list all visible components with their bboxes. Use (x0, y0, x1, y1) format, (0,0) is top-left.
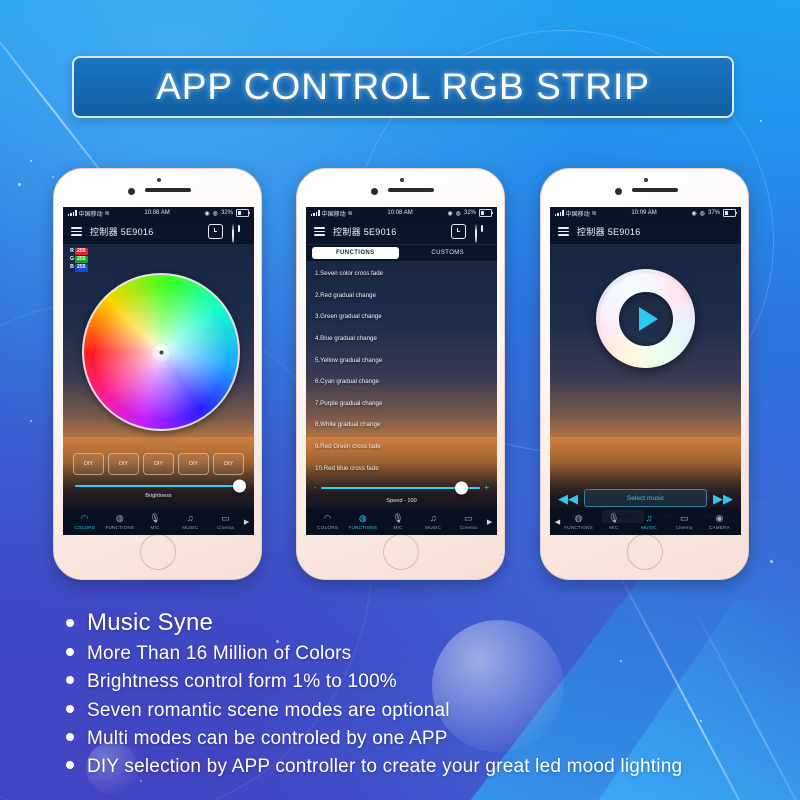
phone-mockup-colors: 中国移动 ≋ 10:08 AM ◉ ◍ 32% 控制器 5E9016 R 255 (53, 168, 262, 580)
cd-disc-icon[interactable] (596, 269, 695, 368)
select-music-button[interactable]: Select music (584, 489, 707, 507)
feature-text: Multi modes can be controled by one APP (87, 726, 448, 752)
star (760, 120, 762, 122)
music-icon: ♫ (187, 513, 194, 524)
rgb-row-red: R 255 (69, 248, 88, 255)
phone1-screen: 中国移动 ≋ 10:08 AM ◉ ◍ 32% 控制器 5E9016 R 255 (63, 207, 254, 535)
tab-bar: FUNCTIONS CUSTOMS (306, 245, 497, 261)
page-title-banner: APP CONTROL RGB STRIP (72, 56, 734, 118)
list-item[interactable]: 2.Red gradual change (315, 285, 497, 307)
list-item: Brightness control form 1% to 100% (66, 669, 776, 695)
list-item[interactable]: 6.Cyan gradual change (315, 371, 497, 393)
device-name-label: 控制器 5E9016 (577, 225, 641, 238)
list-item: Seven romantic scene modes are optional (66, 698, 776, 724)
nav-label: COLORS (317, 525, 338, 530)
cinema-icon: ▭ (464, 513, 473, 524)
nav-prev-arrow-icon[interactable]: ◀ (554, 518, 561, 526)
brightness-label: Brightness (75, 493, 242, 499)
nav-item-mic[interactable]: 🎙 MIC (137, 513, 172, 530)
nav-next-arrow-icon[interactable]: ▶ (243, 518, 250, 526)
nav-item-functions[interactable]: ◍ FUNCTIONS (561, 513, 596, 530)
speed-decrease-button[interactable]: - (314, 484, 317, 492)
mic-icon: 🎙 (392, 513, 403, 524)
feature-text: Brightness control form 1% to 100% (87, 669, 397, 695)
nav-next-arrow-icon[interactable]: ▶ (486, 518, 493, 526)
list-item: DIY selection by APP controller to creat… (66, 754, 776, 780)
page-title: APP CONTROL RGB STRIP (156, 66, 650, 108)
rgb-value: 255 (75, 264, 88, 271)
nav-item-camera[interactable]: ◉ CAMERA (702, 513, 737, 530)
color-wheel[interactable] (82, 273, 240, 431)
brightness-slider-group: Brightness (75, 485, 242, 499)
rgb-row-green: G 255 (69, 256, 88, 263)
hamburger-icon[interactable] (71, 227, 82, 236)
nav-label: Cinema (217, 525, 234, 530)
bullet-dot-icon (66, 619, 74, 627)
front-camera-icon (615, 188, 622, 195)
device-name-label: 控制器 5E9016 (333, 225, 397, 238)
hamburger-icon[interactable] (314, 227, 325, 236)
music-transport-bar: ◀◀ Select music ▶▶ (558, 489, 733, 507)
speed-slider-group: - + Speed - 100 (314, 484, 489, 504)
list-item[interactable]: 4.Blue gradual change (315, 328, 497, 350)
alarm-status-icon: ◍ (700, 210, 705, 217)
functions-icon: ◍ (116, 513, 124, 524)
nav-label: MUSIC (425, 525, 441, 530)
tab-customs[interactable]: CUSTOMS (405, 247, 492, 259)
bottom-nav-bar: ◠ COLORS ◍ FUNCTIONS 🎙 MIC ♫ MUSIC ▭ Cin… (63, 508, 254, 535)
carrier-label: 中国移动 (322, 209, 346, 218)
nav-label: COLORS (74, 525, 95, 530)
nav-label: MUSIC (182, 525, 198, 530)
home-button[interactable] (627, 534, 663, 570)
battery-percent-label: 32% (221, 210, 233, 216)
bottom-nav-bar: ◀ ◍ FUNCTIONS 🎙 MIC ♫ MUSIC ▭ Cinema ◉ C… (550, 508, 741, 535)
diy-button-4[interactable]: DIY (178, 453, 209, 475)
nav-item-colors[interactable]: ◠ COLORS (67, 513, 102, 530)
battery-icon (236, 209, 249, 217)
rgb-readout: R 255 G 255 B 255 (69, 248, 88, 272)
list-item: Multi modes can be controled by one APP (66, 726, 776, 752)
feature-text: Seven romantic scene modes are optional (87, 698, 450, 724)
fast-forward-icon[interactable]: ▶▶ (713, 492, 733, 505)
home-button[interactable] (140, 534, 176, 570)
colors-icon: ◠ (324, 513, 332, 524)
bullet-dot-icon (66, 648, 74, 656)
status-bar: 中国移动 ≋ 10:08 AM ◉ ◍ 32% (306, 207, 497, 219)
bullet-dot-icon (66, 733, 74, 741)
list-item[interactable]: 1.Seven color cross fade (315, 263, 497, 285)
phone-bezel-top (54, 169, 261, 207)
list-item[interactable]: 5.Yellow gradual change (315, 349, 497, 371)
list-item[interactable]: 3.Green gradual change (315, 306, 497, 328)
power-icon[interactable] (232, 225, 246, 239)
nav-item-music[interactable]: ♫ MUSIC (173, 513, 208, 530)
brightness-slider[interactable] (75, 485, 242, 487)
app-bar: 控制器 5E9016 (550, 219, 741, 244)
nav-item-functions[interactable]: ◍ FUNCTIONS (102, 513, 137, 530)
list-item: More Than 16 Million of Colors (66, 641, 776, 667)
feature-text: DIY selection by APP controller to creat… (87, 754, 682, 780)
color-wheel-knob[interactable] (152, 343, 171, 362)
rgb-value: 255 (75, 248, 88, 255)
battery-icon (479, 209, 492, 217)
clock-label: 10:08 AM (353, 210, 448, 216)
nav-item-music[interactable]: ♫ MUSIC (631, 513, 666, 530)
phone3-screen: 中国移动 ≋ 10:09 AM ◉ ◍ 37% 控制器 5E9016 ◀◀ Se… (550, 207, 741, 535)
alarm-status-icon: ◍ (456, 210, 461, 217)
nav-label: FUNCTIONS (106, 525, 135, 530)
brightness-slider-thumb[interactable] (233, 480, 246, 493)
nav-label: Cinema (460, 525, 477, 530)
nav-item-cinema[interactable]: ▭ Cinema (667, 513, 702, 530)
star (30, 420, 32, 422)
proximity-sensor-icon (157, 178, 161, 182)
nav-item-colors[interactable]: ◠ COLORS (310, 513, 345, 530)
phone-mockup-music: 中国移动 ≋ 10:09 AM ◉ ◍ 37% 控制器 5E9016 ◀◀ Se… (540, 168, 749, 580)
functions-icon: ◍ (359, 513, 367, 524)
speed-label: Speed - 100 (314, 498, 489, 504)
carrier-label: 中国移动 (79, 209, 103, 218)
front-camera-icon (371, 188, 378, 195)
diy-button-3[interactable]: DIY (143, 453, 174, 475)
nav-label: MIC (393, 525, 402, 530)
proximity-sensor-icon (400, 178, 404, 182)
bullet-dot-icon (66, 761, 74, 769)
status-bar: 中国移动 ≋ 10:08 AM ◉ ◍ 32% (63, 207, 254, 219)
nav-label: Cinema (676, 525, 693, 530)
music-icon: ♫ (646, 513, 653, 524)
feature-text: Music Syne (87, 606, 213, 639)
earpiece-speaker (632, 188, 678, 192)
battery-percent-label: 32% (464, 210, 476, 216)
mic-icon: 🎙 (149, 513, 160, 524)
signal-icon (555, 210, 564, 216)
proximity-sensor-icon (644, 178, 648, 182)
list-item[interactable]: 8.White gradual change (315, 414, 497, 436)
functions-icon: ◍ (575, 513, 583, 524)
phone-bezel-top (297, 169, 504, 207)
speed-slider-thumb[interactable] (455, 481, 468, 494)
nav-label: MIC (609, 525, 618, 530)
tab-functions[interactable]: FUNCTIONS (312, 247, 399, 259)
phone-bezel-top (541, 169, 748, 207)
list-item[interactable]: 7.Purple gradual change (315, 393, 497, 415)
wallpaper (550, 207, 741, 535)
nav-label: FUNCTIONS (564, 525, 593, 530)
rgb-value: 255 (75, 256, 88, 263)
location-icon: ◉ (691, 210, 696, 217)
rewind-icon[interactable]: ◀◀ (558, 492, 578, 505)
nav-label: MIC (150, 525, 159, 530)
clock-label: 10:08 AM (110, 210, 205, 216)
app-bar: 控制器 5E9016 (63, 219, 254, 244)
nav-item-cinema[interactable]: ▭ Cinema (451, 513, 486, 530)
phone-mockup-functions: 中国移动 ≋ 10:08 AM ◉ ◍ 32% 控制器 5E9016 FUNCT… (296, 168, 505, 580)
nav-item-cinema[interactable]: ▭ Cinema (208, 513, 243, 530)
camera-icon: ◉ (715, 513, 723, 524)
location-icon: ◉ (447, 210, 452, 217)
list-item: Music Syne (66, 606, 776, 639)
star (770, 560, 773, 563)
location-icon: ◉ (204, 210, 209, 217)
nav-label: MUSIC (641, 525, 657, 530)
carrier-label: 中国移动 (566, 209, 590, 218)
nav-item-functions[interactable]: ◍ FUNCTIONS (345, 513, 380, 530)
speed-slider[interactable] (321, 487, 481, 489)
diy-button-row: DIY DIY DIY DIY DIY (73, 453, 244, 475)
cinema-icon: ▭ (221, 513, 230, 524)
list-item[interactable]: 9.Red Green cross fade (315, 436, 497, 458)
bullet-dot-icon (66, 676, 74, 684)
app-bar: 控制器 5E9016 (306, 219, 497, 244)
cinema-icon: ▭ (680, 513, 689, 524)
device-name-label: 控制器 5E9016 (90, 225, 154, 238)
earpiece-speaker (388, 188, 434, 192)
diy-button-5[interactable]: DIY (213, 453, 244, 475)
nav-item-mic[interactable]: 🎙 MIC (380, 513, 415, 530)
speed-increase-button[interactable]: + (484, 484, 489, 492)
nav-item-music[interactable]: ♫ MUSIC (416, 513, 451, 530)
nav-label: FUNCTIONS (349, 525, 378, 530)
mode-list[interactable]: 1.Seven color cross fade 2.Red gradual c… (306, 263, 497, 479)
battery-icon (723, 209, 736, 217)
clock-label: 10:09 AM (597, 210, 692, 216)
diy-button-2[interactable]: DIY (108, 453, 139, 475)
alarm-status-icon: ◍ (213, 210, 218, 217)
music-icon: ♫ (430, 513, 437, 524)
alarm-icon[interactable] (451, 224, 466, 239)
power-icon[interactable] (475, 225, 489, 239)
signal-icon (311, 210, 320, 216)
hamburger-icon[interactable] (558, 227, 569, 236)
feature-list: Music Syne More Than 16 Million of Color… (66, 606, 776, 782)
diy-button-1[interactable]: DIY (73, 453, 104, 475)
home-button[interactable] (383, 534, 419, 570)
phone2-screen: 中国移动 ≋ 10:08 AM ◉ ◍ 32% 控制器 5E9016 FUNCT… (306, 207, 497, 535)
bottom-nav-bar: ◠ COLORS ◍ FUNCTIONS 🎙 MIC ♫ MUSIC ▭ Cin… (306, 508, 497, 535)
signal-icon (68, 210, 77, 216)
earpiece-speaker (145, 188, 191, 192)
mic-icon: 🎙 (608, 513, 619, 524)
nav-item-mic[interactable]: 🎙 MIC (596, 513, 631, 530)
star (30, 160, 32, 162)
play-icon[interactable] (639, 307, 658, 331)
front-camera-icon (128, 188, 135, 195)
bullet-dot-icon (66, 705, 74, 713)
rgb-row-blue: B 255 (69, 264, 88, 271)
disc-center (619, 292, 673, 346)
colors-icon: ◠ (81, 513, 89, 524)
star (18, 183, 21, 186)
feature-text: More Than 16 Million of Colors (87, 641, 351, 667)
list-item[interactable]: 10.Red blue cross fade (315, 457, 497, 479)
alarm-icon[interactable] (208, 224, 223, 239)
nav-label: CAMERA (709, 525, 730, 530)
battery-percent-label: 37% (708, 210, 720, 216)
status-bar: 中国移动 ≋ 10:09 AM ◉ ◍ 37% (550, 207, 741, 219)
